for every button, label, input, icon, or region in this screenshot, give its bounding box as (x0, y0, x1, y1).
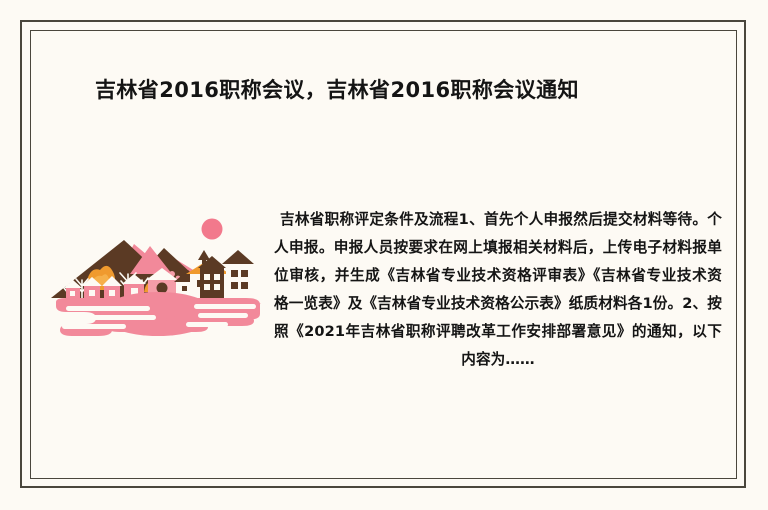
winter-village-illustration (46, 208, 268, 348)
article-body-text: 吉林省职称评定条件及流程1、首先个人申报然后提交材料等待。个人申报。申报人员按要… (274, 206, 722, 374)
page-title: 吉林省2016职称会议，吉林省2016职称会议通知 (95, 77, 579, 104)
cloud-band-group (56, 292, 260, 336)
article-page: 吉林省2016职称会议，吉林省2016职称会议通知 (0, 0, 768, 510)
house-right-white (222, 250, 254, 300)
article-content: 吉林省职称评定条件及流程1、首先个人申报然后提交材料等待。个人申报。申报人员按要… (46, 200, 722, 420)
sun-shape (202, 219, 223, 240)
